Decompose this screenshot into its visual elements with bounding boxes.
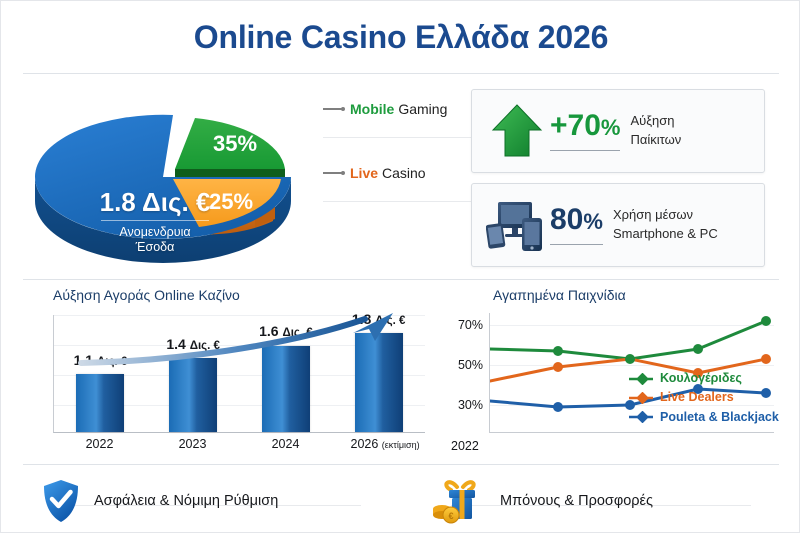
x-tick-2026-note: (εκτίμιση): [382, 440, 420, 450]
legend-marker-diamond-icon: [629, 392, 655, 404]
bar-chart-plot: 1.1 Δις. € 1.4 Δις. € 1.6 Δις. €: [53, 315, 425, 433]
stat-caption-line2: Παίκιτων: [630, 131, 681, 150]
bar-unit: Δις. €: [282, 327, 312, 339]
line-chart-x-label: 2022: [451, 439, 479, 453]
stat-caption-line2: Smartphone & PC: [613, 225, 718, 244]
bar-value: 1.8: [352, 311, 371, 327]
pie-legend-live-rest: Casino: [382, 165, 426, 181]
bar-2023[interactable]: [169, 358, 217, 432]
line-chart-title: Αγαπημένα Παιχνίδια: [493, 287, 791, 303]
bar-2024[interactable]: [262, 346, 310, 432]
legend-label-live-dealers: Live Dealers: [660, 388, 734, 407]
stat-caption-line1: Αύξηση: [630, 112, 681, 131]
bar-unit: Δις. €: [190, 340, 220, 352]
stat-caption-line1: Χρήση μέσων: [613, 206, 718, 225]
stat-rule: [550, 244, 603, 245]
legend-label-pouleta-blackjack: Pouleta & Blackjack: [660, 408, 779, 427]
bar-column[interactable]: 1.1 Δις. €: [72, 315, 128, 432]
footer-item-bonuses[interactable]: € Μπόνους & Προσφορές: [431, 471, 653, 531]
pie-slice-mobile-side: [175, 169, 285, 177]
pie-legend-item-live[interactable]: Live Casino: [323, 165, 426, 181]
footer-label-security: Ασφάλεια & Νόμιμη Ρύθμιση: [94, 493, 278, 509]
pie-chart: 35% 25% 1.8 Δις. € Ανομενδρυια Έσοδα: [23, 81, 343, 271]
x-tick-2023: 2023: [165, 437, 221, 451]
legend-item-koulogerides[interactable]: Κουλογέριδες: [629, 369, 794, 388]
footer-label-bonuses: Μπόνους & Προσφορές: [500, 493, 653, 509]
bar-2026[interactable]: [355, 333, 403, 432]
bar-value: 1.6: [259, 323, 278, 339]
bar-value-label: 1.8 Δις. €: [352, 311, 406, 327]
divider-bottom: [23, 464, 779, 465]
footer-item-security[interactable]: Ασφάλεια & Νόμιμη Ρύθμιση: [41, 471, 278, 531]
divider-top: [23, 73, 779, 74]
bar-column[interactable]: 1.8 Δις. €: [351, 315, 407, 432]
y-tick-50: 50%: [458, 358, 483, 372]
pie-chart-panel: 35% 25% 1.8 Δις. € Ανομενδρυια Έσοδα Mob…: [23, 81, 463, 276]
legend-marker-diamond-icon: [629, 373, 655, 385]
stat-card-player-growth[interactable]: +70% Αύξηση Παίκιτων: [471, 89, 765, 173]
gift-coins-icon: €: [431, 477, 487, 525]
shield-check-icon: [41, 478, 81, 524]
x-tick-2026-year: 2026: [351, 437, 379, 451]
x-tick-2024: 2024: [258, 437, 314, 451]
pie-legend-mobile-rest: Gaming: [398, 101, 447, 117]
bar-value: 1.1: [74, 352, 93, 368]
stat-value-player-growth: +70%: [550, 111, 620, 141]
legend-marker-diamond-icon: [629, 411, 655, 423]
bar-column[interactable]: 1.4 Δις. €: [165, 315, 221, 432]
y-tick-70: 70%: [458, 318, 483, 332]
leader-line-icon: [323, 172, 343, 174]
line-chart-y-axis: 70% 50% 30%: [441, 313, 487, 433]
bar-unit: Δις. €: [97, 356, 127, 368]
infographic-canvas: Online Casino Ελλάδα 2026: [0, 0, 800, 533]
bar-unit: Δις. €: [375, 315, 405, 327]
pie-label-underline-1: [323, 137, 495, 138]
pie-percent-live: 25%: [209, 189, 253, 214]
series-points-koulogerides: [553, 316, 771, 364]
bar-value-label: 1.1 Δις. €: [74, 352, 128, 368]
pie-percent-mobile: 35%: [213, 131, 257, 156]
stat-caption-player-growth: Αύξηση Παίκιτων: [630, 112, 681, 150]
bar-chart-panel: Αύξηση Αγοράς Online Καζίνο 1.1 Δις. € 1…: [31, 287, 431, 457]
divider-middle: [23, 279, 779, 280]
leader-line-icon: [323, 108, 343, 110]
stat-unit: %: [601, 115, 621, 140]
bar-chart-x-axis: 2022 2023 2024 2026 (εκτίμιση): [53, 437, 425, 451]
stat-value-group: +70%: [550, 111, 620, 151]
line-chart-legend: Κουλογέριδες Live Dealers Pouleta & Blac…: [629, 369, 794, 427]
svg-text:€: €: [448, 511, 453, 521]
stat-rule: [550, 150, 620, 151]
stat-card-device-usage[interactable]: 80% Χρήση μέσων Smartphone & PC: [471, 183, 765, 267]
bar-2022[interactable]: [76, 374, 124, 432]
legend-item-live-dealers[interactable]: Live Dealers: [629, 388, 794, 407]
stat-caption-device-usage: Χρήση μέσων Smartphone & PC: [613, 206, 718, 244]
pie-chart-svg: 35% 25%: [23, 81, 343, 273]
leader-dot-icon: [341, 171, 345, 175]
pie-legend-live-strong: Live: [350, 165, 378, 181]
leader-dot-icon: [341, 107, 345, 111]
bar-chart-title: Αύξηση Αγοράς Online Καζίνο: [53, 287, 431, 303]
bar-value-label: 1.6 Δις. €: [259, 323, 313, 339]
pie-legend-mobile-strong: Mobile: [350, 101, 394, 117]
legend-item-pouleta-blackjack[interactable]: Pouleta & Blackjack: [629, 408, 794, 427]
up-arrow-icon: [484, 102, 550, 160]
stat-value-device-usage: 80%: [550, 205, 603, 235]
stat-value-group: 80%: [550, 205, 603, 245]
bar-value: 1.4: [166, 336, 185, 352]
bar-group: 1.1 Δις. € 1.4 Δις. € 1.6 Δις. €: [54, 315, 425, 432]
bar-column[interactable]: 1.6 Δις. €: [258, 315, 314, 432]
devices-icon: [484, 198, 550, 252]
x-tick-2022: 2022: [72, 437, 128, 451]
y-tick-30: 30%: [458, 398, 483, 412]
page-title: Online Casino Ελλάδα 2026: [1, 19, 800, 56]
line-chart-panel: Αγαπημένα Παιχνίδια 70% 50% 30%: [441, 287, 791, 457]
series-line-koulogerides: [490, 321, 766, 359]
stat-unit: %: [583, 209, 603, 234]
pie-label-underline-2: [323, 201, 495, 202]
legend-label-koulogerides: Κουλογέριδες: [660, 369, 742, 388]
pie-legend-item-mobile[interactable]: Mobile Gaming: [323, 101, 447, 117]
x-tick-2026: 2026 (εκτίμιση): [351, 437, 407, 451]
bar-value-label: 1.4 Δις. €: [166, 336, 220, 352]
